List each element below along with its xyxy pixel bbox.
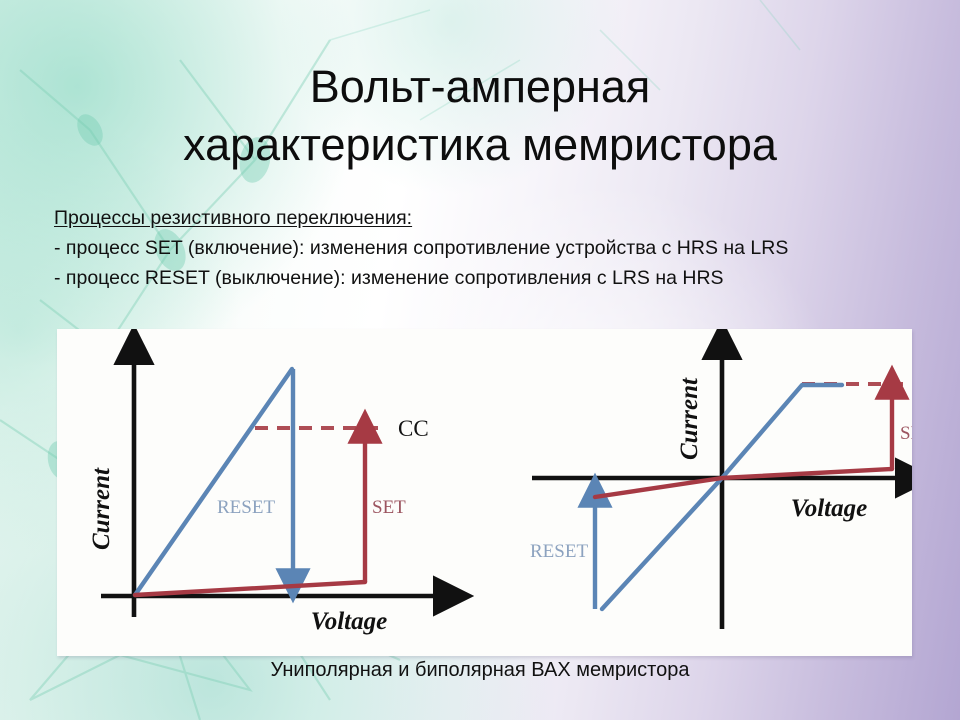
- set-label: SET: [900, 423, 912, 444]
- body-bullet-reset: - процесс RESET (выключение): изменение …: [54, 263, 914, 293]
- chart-unipolar-iv: Current Voltage CC RESET SET: [57, 329, 487, 656]
- set-label: SET: [372, 497, 406, 518]
- figure-caption: Униполярная и биполярная ВАХ мемристора: [0, 659, 960, 682]
- title-line-2: характеристика мемристора: [0, 116, 960, 174]
- series-reset-blue: [135, 369, 292, 595]
- slide-background: Вольт-амперная характеристика мемристора…: [0, 0, 960, 720]
- x-axis-label: Voltage: [791, 495, 867, 522]
- series-set-red: [595, 469, 892, 497]
- reset-label: RESET: [530, 541, 588, 562]
- figure-panel: Current Voltage CC RESET SET: [57, 329, 912, 656]
- x-axis-label: Voltage: [311, 608, 387, 635]
- title-line-1: Вольт-амперная: [310, 61, 650, 112]
- series-set-red: [135, 582, 365, 595]
- body-heading: Процессы резистивного переключения:: [54, 203, 914, 233]
- y-axis-label: Current: [88, 467, 115, 550]
- chart-bipolar-iv: Current Voltage CC RESET SET: [472, 329, 912, 656]
- y-axis-label: Current: [676, 377, 703, 460]
- body-text-block: Процессы резистивного переключения: - пр…: [54, 203, 914, 293]
- reset-label: RESET: [217, 497, 275, 518]
- cc-label: CC: [398, 416, 429, 441]
- page-title: Вольт-амперная характеристика мемристора: [0, 58, 960, 173]
- body-bullet-set: - процесс SET (включение): изменения соп…: [54, 233, 914, 263]
